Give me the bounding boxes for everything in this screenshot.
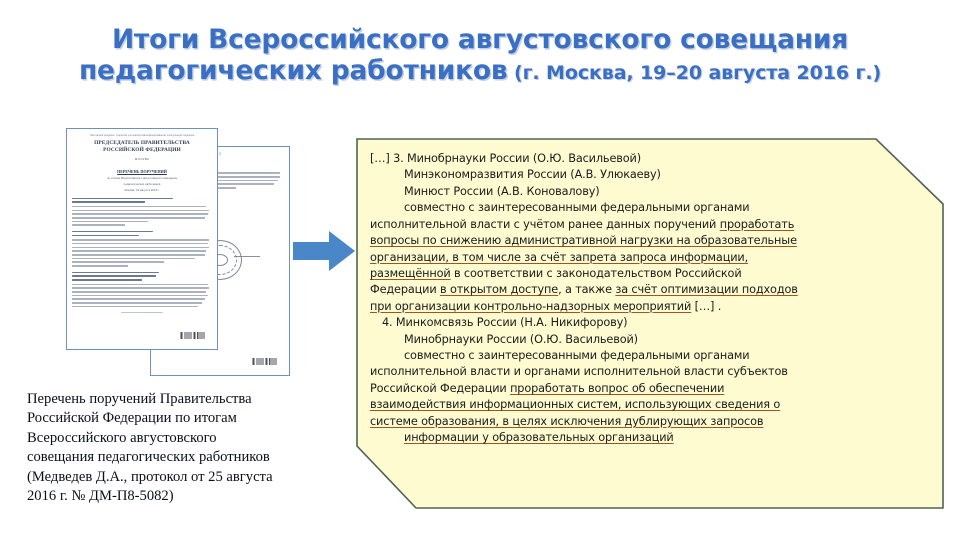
callout-underlined-text: за счёт оптимизации подходов xyxy=(615,283,797,296)
quote-callout: […] 3. Минобрнауки России (О.Ю. Васильев… xyxy=(356,138,944,509)
callout-text: Федерации xyxy=(370,283,440,296)
callout-line: системе образования, в целях исключения … xyxy=(370,414,934,430)
callout-line: Минобрнауки России (О.Ю. Васильевой) xyxy=(370,332,934,348)
callout-line: исполнительной власти и органами исполни… xyxy=(370,364,934,380)
page-title: Итоги Всероссийского августовского совещ… xyxy=(0,24,960,87)
callout-underlined-text: взаимодействия информационных систем, ис… xyxy=(370,398,780,411)
document-page-1: Настоящий документ подписан усиленной кв… xyxy=(66,128,218,350)
callout-text: Минюст России (А.В. Коновалову) xyxy=(404,185,600,198)
callout-line: Федерации в открытом доступе, а также за… xyxy=(370,282,934,298)
document-page-1-content: Настоящий документ подписан усиленной кв… xyxy=(72,134,212,344)
callout-line: совместно с заинтересованными федеральны… xyxy=(370,348,934,364)
document-body-paragraph-3 xyxy=(72,272,212,308)
callout-text: , а также xyxy=(558,283,615,296)
callout-line: при организации контрольно-надзорных мер… xyxy=(370,299,934,315)
document-body-paragraph-2 xyxy=(72,231,212,267)
document-barcode xyxy=(252,358,278,365)
callout-line: […] 3. Минобрнауки России (О.Ю. Васильев… xyxy=(370,151,934,167)
document-signature-block xyxy=(72,312,212,313)
callout-line: Минюст России (А.В. Коновалову) xyxy=(370,184,934,200)
callout-text: […] 3. Минобрнауки России (О.Ю. Васильев… xyxy=(370,152,641,165)
document-micro-header: Настоящий документ подписан усиленной кв… xyxy=(72,134,212,137)
callout-text: 4. Минкомсвязь России (Н.А. Никифорову) xyxy=(382,316,627,329)
callout-text: Российской Федерации xyxy=(370,382,510,395)
right-block-arrow xyxy=(293,231,355,271)
callout-underlined-text: организации, в том числе за счёт запрета… xyxy=(370,251,748,264)
callout-text: исполнительной власти и органами исполни… xyxy=(370,365,788,378)
callout-line: Российской Федерации проработать вопрос … xyxy=(370,381,934,397)
document-section-sub-2: педагогических работников xyxy=(72,182,212,186)
document-heading-city: МОСКВА xyxy=(72,157,212,161)
callout-text: совместно с заинтересованными федеральны… xyxy=(404,201,749,214)
image-caption: Перечень поручений ПравительстваРоссийск… xyxy=(27,390,357,507)
callout-text: […] . xyxy=(691,300,721,313)
document-section-sub-1: по итогам Всероссийского августовского с… xyxy=(72,176,212,180)
title-line-2: педагогических работников (г. Москва, 19… xyxy=(0,55,960,86)
callout-line: 4. Минкомсвязь России (Н.А. Никифорову) xyxy=(370,315,934,331)
caption-line: (Медведев Д.А., протокол от 25 августа xyxy=(27,468,357,487)
callout-underlined-text: проработать xyxy=(720,218,795,231)
callout-underlined-text: при организации контрольно-надзорных мер… xyxy=(370,300,691,313)
callout-underlined-text: вопросы по снижению административной наг… xyxy=(370,234,797,247)
callout-underlined-text: в открытом доступе xyxy=(440,283,558,296)
callout-line: вопросы по снижению административной наг… xyxy=(370,233,934,249)
slide-canvas: Итоги Всероссийского августовского совещ… xyxy=(0,0,960,540)
title-line-2-sub: (г. Москва, 19–20 августа 2016 г.) xyxy=(508,62,882,84)
document-barcode xyxy=(180,332,206,339)
callout-line: размещённой в соответствии с законодател… xyxy=(370,266,934,282)
callout-underlined-text: размещённой xyxy=(370,267,451,280)
callout-underlined-text: проработать вопрос об обеспечении xyxy=(510,382,724,395)
caption-line: Всероссийского августовского xyxy=(27,429,357,448)
document-body-paragraph-1 xyxy=(72,198,212,226)
callout-text: Минобрнауки России (О.Ю. Васильевой) xyxy=(404,333,638,346)
document-section-sub-3: Москва, 19 августа 2016 г. xyxy=(72,188,212,192)
callout-text-body: […] 3. Минобрнауки России (О.Ю. Васильев… xyxy=(370,151,934,447)
callout-line: информации у образовательных организаций xyxy=(370,430,934,446)
callout-line: организации, в том числе за счёт запрета… xyxy=(370,250,934,266)
callout-text: исполнительной власти с учётом ранее дан… xyxy=(370,218,720,231)
callout-line: взаимодействия информационных систем, ис… xyxy=(370,397,934,413)
seal-pointer-line xyxy=(234,256,260,257)
document-heading-line-1: ПРЕДСЕДАТЕЛЬ ПРАВИТЕЛЬСТВА xyxy=(72,140,212,147)
document-section-title: ПЕРЕЧЕНЬ ПОРУЧЕНИЙ xyxy=(72,169,212,174)
caption-line: Российской Федерации по итогам xyxy=(27,409,357,428)
callout-line: Минэкономразвития России (А.В. Улюкаеву) xyxy=(370,167,934,183)
title-line-2-main: педагогических работников xyxy=(79,55,508,86)
callout-text: в соответствии с законодательством Росси… xyxy=(451,267,742,280)
callout-underlined-text: информации у образовательных организаций xyxy=(404,431,674,444)
document-heading-line-2: РОССИЙСКОЙ ФЕДЕРАЦИИ xyxy=(72,147,212,154)
caption-line: Перечень поручений Правительства xyxy=(27,390,357,409)
callout-line: совместно с заинтересованными федеральны… xyxy=(370,200,934,216)
callout-text: Минэкономразвития России (А.В. Улюкаеву) xyxy=(404,168,661,181)
caption-line: 2016 г. № ДМ-П8-5082) xyxy=(27,487,357,506)
callout-underlined-text: системе образования, в целях исключения … xyxy=(370,415,763,428)
caption-line: совещания педагогических работников xyxy=(27,448,357,467)
callout-line: исполнительной власти с учётом ранее дан… xyxy=(370,217,934,233)
callout-text: совместно с заинтересованными федеральны… xyxy=(404,349,749,362)
title-line-1: Итоги Всероссийского августовского совещ… xyxy=(0,24,960,55)
